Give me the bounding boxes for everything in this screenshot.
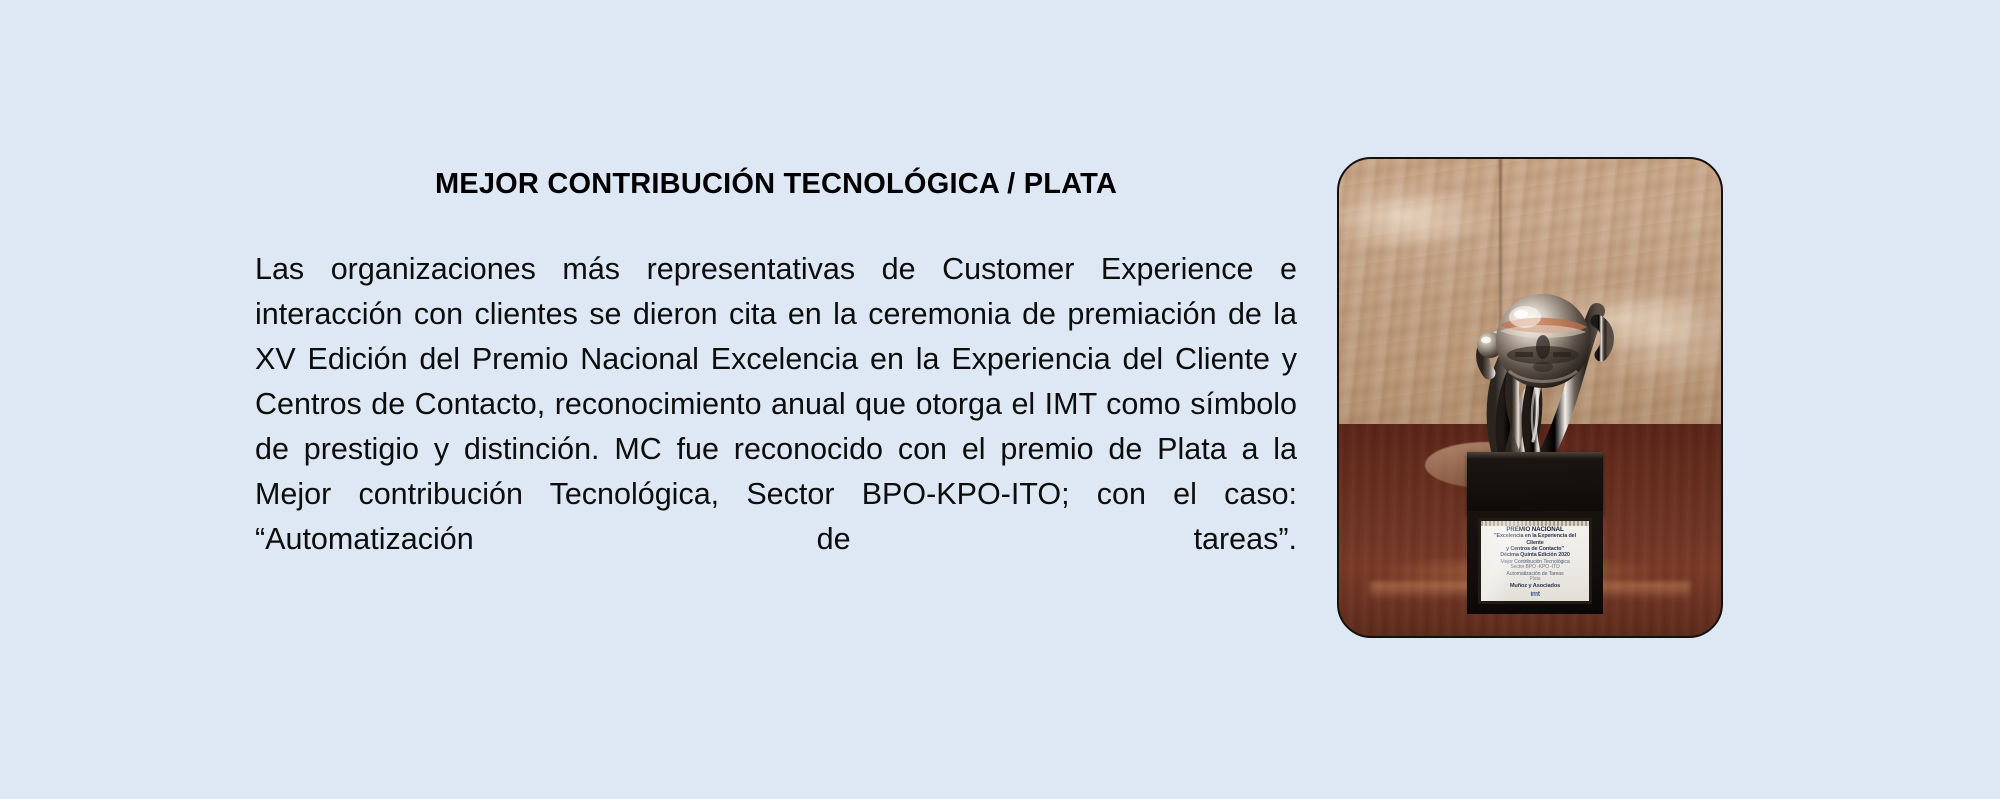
page-title: MEJOR CONTRIBUCIÓN TECNOLÓGICA / PLATA	[255, 168, 1297, 201]
plaque-metal: Plata	[1485, 577, 1585, 583]
trophy-photo: PREMIO NACIONAL "Excelencia en la Experi…	[1339, 159, 1721, 636]
award-text-column: MEJOR CONTRIBUCIÓN TECNOLÓGICA / PLATA L…	[255, 168, 1297, 607]
award-description-paragraph: Las organizaciones más representativas d…	[255, 247, 1297, 607]
imt-logo: imt	[1485, 591, 1585, 598]
trophy-plaque: PREMIO NACIONAL "Excelencia en la Experi…	[1478, 518, 1592, 604]
slide-canvas: MEJOR CONTRIBUCIÓN TECNOLÓGICA / PLATA L…	[0, 0, 2000, 799]
plaque-top-strip	[1481, 521, 1589, 526]
trophy-photo-frame: PREMIO NACIONAL "Excelencia en la Experi…	[1337, 157, 1723, 638]
trophy-base-top	[1467, 452, 1603, 515]
plaque-title: PREMIO NACIONAL	[1485, 526, 1585, 533]
plaque-company: Muñoz y Asociados	[1485, 583, 1585, 590]
plaque-subtitle-line-1: "Excelencia en la Experiencia del Client…	[1485, 533, 1585, 546]
